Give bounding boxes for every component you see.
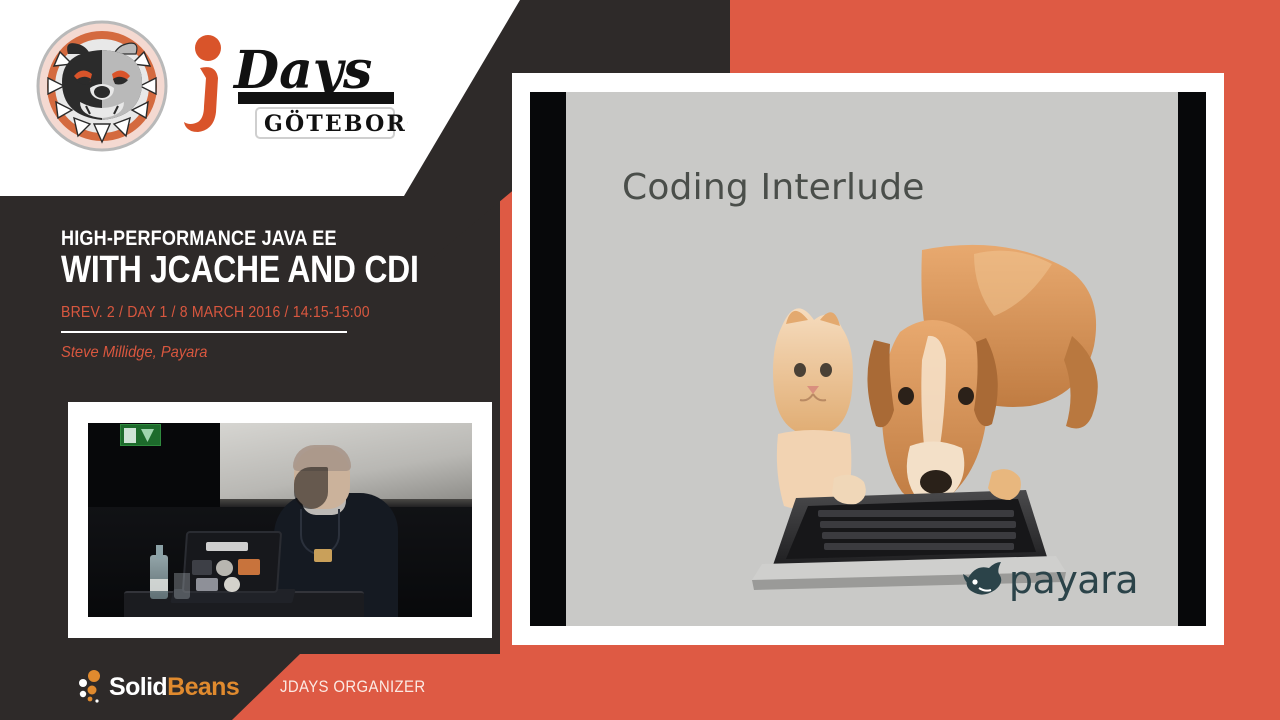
footer-bar: Solid Beans JDAYS ORGANIZER [0, 654, 1280, 720]
bulldog-mascot-icon [34, 18, 170, 154]
svg-text:GÖTEBORG: GÖTEBORG [264, 109, 408, 137]
talk-title: WITH JCACHE AND CDI [61, 251, 397, 290]
solidbeans-beans-text: Beans [167, 675, 239, 700]
payara-logo: payara [961, 560, 1138, 600]
talk-speaker-name: Steve Millidge, Payara [61, 344, 429, 362]
payara-fish-icon [961, 560, 1005, 600]
water-bottle-neck [156, 545, 163, 559]
laptop-sticker [238, 559, 260, 575]
water-bottle-label [150, 579, 168, 591]
speaker-face-shadow [294, 467, 328, 509]
laptop-sticker [216, 560, 233, 576]
laptop-sticker [196, 578, 218, 591]
speaker-badge [314, 549, 332, 562]
svg-text:Days: Days [232, 40, 372, 101]
jdays-wordmark: Days GÖTEBORG [178, 26, 408, 146]
slide-canvas: Coding Interlude [566, 92, 1178, 626]
presentation-recording-stage: Days GÖTEBORG HIGH-PERFORMANCE JAVA EE W… [0, 0, 1280, 720]
emergency-exit-sign-icon [120, 424, 161, 446]
slide-screen-capture: Coding Interlude [530, 92, 1206, 626]
speaker-video-frame [68, 402, 492, 638]
talk-kicker: HIGH-PERFORMANCE JAVA EE [61, 228, 405, 250]
drinking-glass [174, 573, 190, 599]
slide-heading: Coding Interlude [622, 167, 925, 208]
solidbeans-solid-text: Solid [109, 675, 167, 700]
payara-wordmark: payara [1009, 561, 1138, 599]
solidbeans-logo: Solid Beans [78, 670, 239, 704]
laptop-sticker [224, 577, 240, 592]
divider-rule [61, 331, 347, 333]
talk-schedule-meta: BREV. 2 / DAY 1 / 8 MARCH 2016 / 14:15-1… [61, 304, 413, 322]
speaker-camera-feed [88, 423, 472, 617]
kitten-and-dog-at-laptop-photo [674, 220, 1114, 610]
laptop-nameplate-sticker [206, 542, 248, 551]
talk-info-block: HIGH-PERFORMANCE JAVA EE WITH JCACHE AND… [61, 228, 461, 362]
solidbeans-dots-icon [78, 670, 104, 704]
slide-frame: Coding Interlude [512, 73, 1224, 645]
water-bottle [150, 555, 168, 599]
laptop-sticker [192, 560, 212, 575]
footer-organizer-label: JDAYS ORGANIZER [280, 677, 425, 697]
